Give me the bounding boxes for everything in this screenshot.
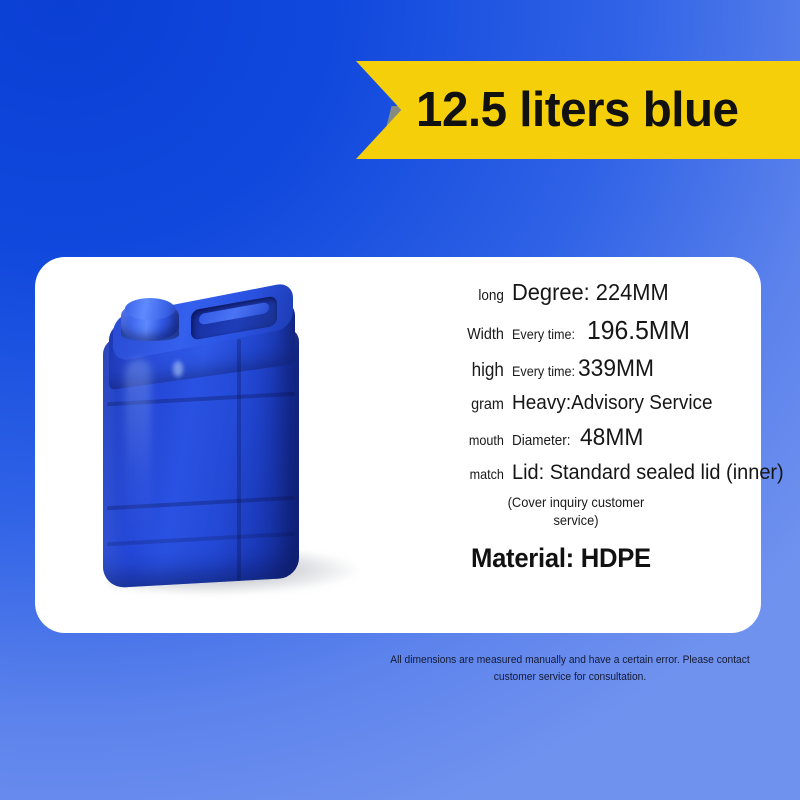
jerrycan-cap-top [125,298,175,320]
spec-row-mouth: mouth Diameter: 48MM [433,424,753,452]
spec-value: 196.5MM [587,315,690,346]
jerrycan-illustration [95,289,313,589]
title-banner: 12.5 liters blue [356,61,800,159]
spec-label: high [441,360,512,382]
spec-row-width: Width Every time: 196.5MM [433,315,753,346]
spec-label: long [441,287,512,304]
spec-value: 339MM [578,355,654,383]
spec-row-long: long Degree: 224MM [433,279,753,306]
spec-row-gram: gram Heavy:Advisory Service [433,392,753,415]
content-card: long Degree: 224MM Width Every time: 196… [35,257,761,633]
material-text: Material: HDPE [471,543,739,574]
spec-label: match [441,466,512,482]
spec-value: 48MM [580,424,643,452]
lid-inquiry-note: (Cover inquiry customer service) [507,494,645,529]
spec-row-match: match Lid: Standard sealed lid (inner) [433,461,753,485]
spec-sublabel: Every time: [512,363,575,379]
banner-title-text: 12.5 liters blue [416,61,788,159]
spec-value: Heavy:Advisory Service [512,392,713,415]
spec-row-high: high Every time: 339MM [433,355,753,383]
product-image [57,277,387,617]
measurement-disclaimer: All dimensions are measured manually and… [375,652,766,685]
spec-label: mouth [441,432,512,448]
spec-sublabel: Every time: [512,326,575,342]
product-poster: 12.5 liters blue [0,0,800,800]
jerrycan-corner-edge [237,339,241,581]
jerrycan-specular-spot [173,361,183,377]
spec-value: Lid: Standard sealed lid (inner) [512,461,784,485]
spec-label: Width [441,326,512,344]
spec-value: Degree: 224MM [512,279,669,306]
spec-label: gram [441,396,512,414]
jerrycan-gloss-highlight [125,358,151,549]
specifications-list: long Degree: 224MM Width Every time: 196… [433,279,753,574]
spec-sublabel: Diameter: [512,432,571,449]
